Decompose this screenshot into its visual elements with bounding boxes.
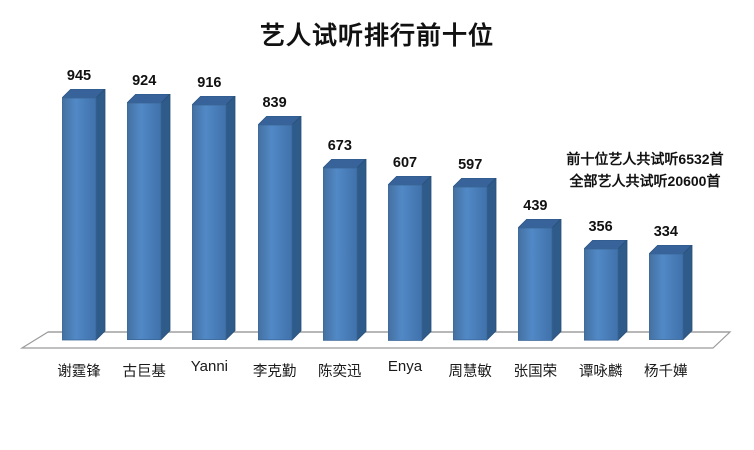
bar-value-label: 334 (635, 224, 697, 240)
bar-front-face (258, 125, 292, 340)
category-label-10: 杨千嬅 (621, 360, 711, 381)
bar-column (518, 219, 552, 340)
bar-front-face (584, 249, 618, 340)
bar-column (192, 96, 226, 340)
bar-side-face (552, 219, 561, 340)
bar-column (323, 159, 357, 340)
bar-side-face (226, 96, 235, 340)
bar-side-face (683, 245, 692, 340)
chart-container: 艺人试听排行前十位 945924916839673607597439356334… (0, 0, 754, 450)
bar-column (62, 89, 96, 340)
bar-side-face (292, 116, 301, 340)
bar-side-face (618, 240, 627, 340)
bar-3d-faces (192, 96, 237, 342)
bar-side-face (96, 89, 105, 340)
annotation-line-1: 前十位艺人共试听6532首 (550, 148, 740, 170)
bar-column (127, 94, 161, 340)
bar-side-face (487, 178, 496, 340)
bar-3d-faces (453, 178, 498, 342)
bar-value-label: 356 (570, 219, 632, 235)
bar-value-label: 839 (244, 95, 306, 111)
bar-3d-faces (258, 116, 303, 342)
plot-area: 945924916839673607597439356334 谢霆锋古巨基Yan… (0, 0, 754, 450)
bar-3d-faces (127, 94, 172, 342)
bar-side-face (357, 159, 366, 340)
annotation-block: 前十位艺人共试听6532首全部艺人共试听20600首 (550, 148, 740, 192)
bar-3d-faces (518, 219, 563, 342)
bar-column (649, 245, 683, 340)
bar-front-face (323, 168, 357, 340)
bar-column (584, 240, 618, 340)
bar-column (388, 176, 422, 340)
bar-front-face (453, 187, 487, 340)
bar-side-face (161, 94, 170, 340)
bar-value-label: 439 (504, 198, 566, 214)
bar-front-face (388, 185, 422, 340)
bar-column (453, 178, 487, 340)
bar-value-label: 597 (439, 157, 501, 173)
bar-front-face (62, 98, 96, 340)
bar-3d-faces (62, 89, 107, 342)
bar-value-label: 924 (113, 73, 175, 89)
bar-value-label: 607 (374, 155, 436, 171)
bar-front-face (649, 254, 683, 340)
bar-value-label: 945 (48, 68, 110, 84)
bar-3d-faces (649, 245, 694, 342)
bar-3d-faces (388, 176, 433, 342)
bar-3d-faces (323, 159, 368, 342)
bar-front-face (518, 228, 552, 340)
bar-value-label: 673 (309, 138, 371, 154)
bar-front-face (127, 103, 161, 340)
bar-value-label: 916 (178, 75, 240, 91)
bar-side-face (422, 176, 431, 340)
annotation-line-2: 全部艺人共试听20600首 (550, 170, 740, 192)
bar-column (258, 116, 292, 340)
bar-front-face (192, 105, 226, 340)
bar-3d-faces (584, 240, 629, 342)
